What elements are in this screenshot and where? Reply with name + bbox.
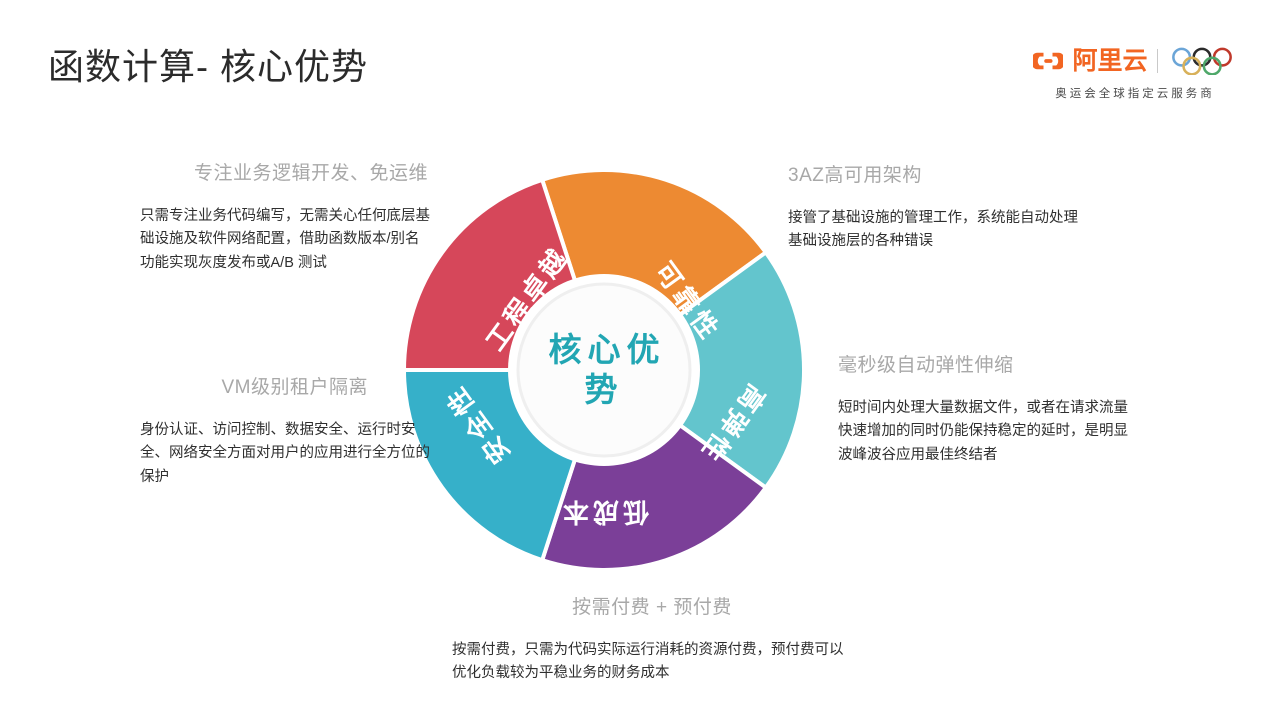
brand-caption: 奥运会全球指定云服务商 (1030, 85, 1240, 101)
brand-name: 阿里云 (1072, 49, 1147, 74)
callout-elasticity-heading: 毫秒级自动弹性伸缩 (838, 350, 1138, 377)
callout-cost-heading: 按需付费 + 预付费 (452, 592, 852, 619)
donut-label-cost: 低成本 (559, 497, 650, 527)
callout-cost: 按需付费 + 预付费 按需付费，只需为代码实际运行消耗的资源付费，预付费可以优化… (452, 592, 852, 686)
callout-elasticity: 毫秒级自动弹性伸缩 短时间内处理大量数据文件，或者在请求流量快速增加的同时仍能保… (838, 350, 1138, 467)
callout-reliability: 3AZ高可用架构 接管了基础设施的管理工作，系统能自动处理基础设施层的各种错误 (788, 160, 1088, 254)
callout-engineering-heading: 专注业务逻辑开发、免运维 (140, 158, 430, 185)
brand-block: 阿里云 奥运会全球指定云服务商 (1030, 44, 1240, 101)
callout-engineering-body: 只需专注业务代码编写，无需关心任何底层基础设施及软件网络配置，借助函数版本/别名… (140, 205, 430, 275)
callout-cost-body: 按需付费，只需为代码实际运行消耗的资源付费，预付费可以优化负载较为平稳业务的财务… (452, 639, 852, 686)
donut-svg: 工程卓越 可靠性 高弹性 低成本 安全性 (374, 140, 834, 600)
brand-row: 阿里云 (1030, 44, 1240, 78)
donut-hole-inner-ring (518, 284, 690, 456)
callout-reliability-heading: 3AZ高可用架构 (788, 160, 1088, 187)
brand-divider (1157, 49, 1158, 73)
page-title: 函数计算- 核心优势 (48, 38, 368, 90)
callout-security-body: 身份认证、访问控制、数据安全、运行时安全、网络安全方面对用户的应用进行全方位的保… (140, 419, 430, 489)
callout-reliability-body: 接管了基础设施的管理工作，系统能自动处理基础设施层的各种错误 (788, 207, 1088, 254)
callout-security-heading: VM级别租户隔离 (140, 372, 430, 399)
olympic-rings-icon (1167, 47, 1237, 75)
callout-elasticity-body: 短时间内处理大量数据文件，或者在请求流量快速增加的同时仍能保持稳定的延时，是明显… (838, 397, 1138, 467)
callout-engineering: 专注业务逻辑开发、免运维 只需专注业务代码编写，无需关心任何底层基础设施及软件网… (140, 158, 430, 275)
alibaba-cloud-logo-icon (1033, 49, 1063, 73)
callout-security: VM级别租户隔离 身份认证、访问控制、数据安全、运行时安全、网络安全方面对用户的… (140, 372, 430, 489)
core-advantages-donut-chart: 工程卓越 可靠性 高弹性 低成本 安全性 核心优势 (374, 140, 834, 600)
